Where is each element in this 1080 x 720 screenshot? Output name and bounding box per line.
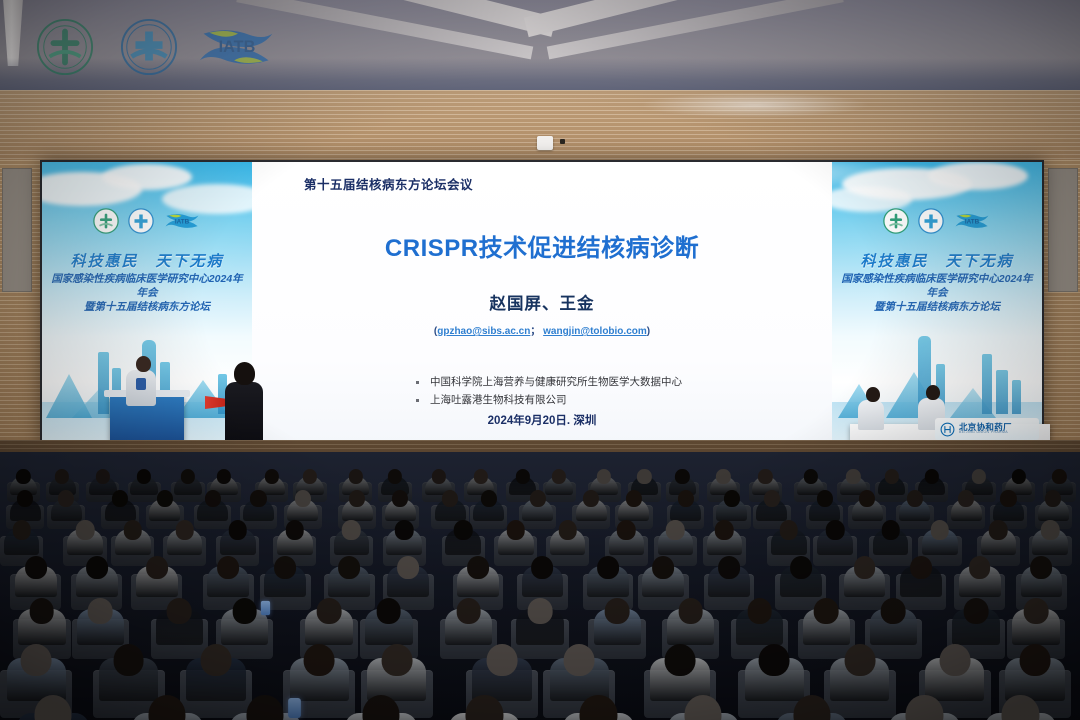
head-table-person-body: [858, 400, 884, 430]
audience-member-head: [303, 469, 317, 484]
audience-member-head: [467, 556, 489, 579]
audience-member-head: [481, 490, 497, 507]
audience-member-head: [12, 520, 31, 539]
green-circular-emblem-logo: [883, 208, 909, 234]
audience-member: [985, 684, 1056, 720]
poster-subtitle-line2: 暨第十五届结核病东方论坛: [84, 301, 210, 313]
cloud-shape: [928, 162, 1028, 190]
audience-member-head: [764, 490, 780, 507]
iatb-logo: IATB: [953, 210, 991, 232]
audience-member-head: [217, 469, 231, 484]
poster-subtitle-line2: 暨第十五届结核病东方论坛: [874, 301, 1000, 313]
list-item: 中国科学院上海营养与健康研究所生物医学大数据中心: [414, 373, 682, 391]
audience-member-head: [88, 598, 113, 624]
list-item: 上海吐露港生物科技有限公司: [414, 391, 682, 409]
sponsor-name-en: BEIJING UNION PHARMA: [959, 431, 1012, 435]
audience-member-head: [473, 469, 487, 484]
standing-staff-body: [225, 382, 263, 444]
audience-member-head: [846, 469, 860, 484]
audience-member-head: [1019, 644, 1050, 676]
audience-member-head: [881, 520, 900, 539]
audience-member-head: [528, 598, 553, 624]
poster-logo-group: IATB: [832, 204, 1042, 238]
audience-member-head: [76, 520, 95, 539]
audience-member-head: [16, 469, 30, 484]
slide-authors: 赵国屏、王金: [252, 290, 832, 314]
audience-member-head: [724, 490, 740, 507]
audience-member-head: [552, 469, 566, 484]
left-wall-gray-panel: [2, 168, 32, 292]
audience-member-head: [530, 490, 546, 507]
conference-hall-screenshot: IATB: [0, 0, 1080, 720]
audience-member-head: [392, 490, 408, 507]
audience-member-head: [349, 490, 365, 507]
slide-date-location: 2024年9月20日. 深圳: [252, 412, 832, 428]
slide-content: 第十五届结核病东方论坛会议 CRISPR技术促进结核病诊断 赵国屏、王金 (gp…: [252, 162, 832, 444]
audience-member-head: [964, 598, 989, 624]
led-screen: IATB 科技惠民 天下无病 国家感染性疾病临床医学研究中心2024年年会 暨第…: [42, 162, 1042, 444]
audience-member-head: [487, 644, 518, 676]
audience-member-head: [790, 556, 812, 579]
audience-member-head: [747, 598, 772, 624]
audience-member-head: [286, 520, 305, 539]
audience-member-head: [295, 490, 311, 507]
svg-text:IATB: IATB: [175, 219, 190, 226]
wall-mount-dot: [560, 139, 565, 144]
slide-emails: (gpzhao@sibs.ac.cn； wangjin@tolobio.com): [252, 322, 832, 337]
audience-member-head: [859, 490, 875, 507]
tower-shape: [1012, 380, 1021, 414]
audience-member-head: [55, 469, 69, 484]
audience-member: [345, 684, 416, 720]
audience-member-head: [564, 644, 595, 676]
audience-member-head: [395, 520, 414, 539]
audience-member-head: [759, 644, 790, 676]
audience-member: [668, 684, 739, 720]
audience-member-head: [35, 695, 72, 720]
audience-member-head: [304, 644, 335, 676]
audience-member-head: [247, 695, 284, 720]
slide-affiliation-list: 中国科学院上海营养与健康研究所生物医学大数据中心 上海吐露港生物科技有限公司: [374, 373, 682, 410]
audience-member-head: [1045, 490, 1061, 507]
audience-member-head: [338, 556, 360, 579]
audience-member-head: [96, 469, 110, 484]
poster-subtitle: 国家感染性疾病临床医学研究中心2024年年会 暨第十五届结核病东方论坛: [832, 272, 1042, 315]
audience-member-head: [907, 490, 923, 507]
email-separator: ；: [530, 326, 540, 337]
slide-header: 第十五届结核病东方论坛会议: [304, 174, 473, 193]
audience-member-head: [1031, 556, 1053, 579]
audience-member-head: [17, 490, 33, 507]
audience-member-head: [515, 469, 529, 484]
audience-member-head: [137, 469, 151, 484]
audience-member-head: [972, 469, 986, 484]
iatb-logo: IATB: [194, 24, 280, 70]
audience-member-head: [149, 695, 186, 720]
audience-member: [889, 684, 960, 720]
head-table-person-head: [866, 387, 880, 402]
audience-member-head: [580, 695, 617, 720]
audience-member-head: [939, 644, 970, 676]
email-address-2: wangjin@tolobio.com: [543, 326, 647, 337]
audience-area: [0, 452, 1080, 720]
audience-member-head: [924, 469, 938, 484]
audience-member-head: [112, 490, 128, 507]
poster-subtitle: 国家感染性疾病临床医学研究中心2024年年会 暨第十五届结核病东方论坛: [42, 272, 252, 315]
audience-member-head: [205, 490, 221, 507]
audience-member-head: [21, 644, 52, 676]
blue-medical-cross-logo: [918, 208, 944, 234]
audience-member-head: [466, 695, 503, 720]
audience-member-head: [906, 695, 943, 720]
audience-member-head: [157, 490, 173, 507]
union-h-mark-icon: [940, 422, 955, 437]
tower-shape: [98, 352, 109, 414]
audience-member-head: [626, 490, 642, 507]
svg-text:IATB: IATB: [219, 38, 256, 56]
audience-member-head: [181, 469, 195, 484]
poster-subtitle-line1: 国家感染性疾病临床医学研究中心2024年年会: [51, 273, 242, 299]
audience-member-head: [454, 520, 473, 539]
speaker-lanyard: [136, 378, 146, 390]
audience-member-head: [780, 520, 799, 539]
audience-member-head: [715, 520, 734, 539]
audience-member-head: [685, 695, 722, 720]
audience-member-head: [1002, 695, 1039, 720]
audience-member-head: [532, 556, 554, 579]
email-address-1: gpzhao@sibs.ac.cn: [437, 326, 530, 337]
blue-medical-cross-logo: [120, 18, 178, 76]
audience-member-head: [229, 520, 248, 539]
audience-member-head: [167, 598, 192, 624]
audience-member-head: [958, 490, 974, 507]
audience-member-head: [381, 644, 412, 676]
poster-tagline: 科技惠民 天下无病: [832, 250, 1042, 271]
audience-member-head: [1052, 469, 1066, 484]
raised-phone: [288, 699, 301, 719]
audience-member-head: [817, 490, 833, 507]
audience-member: [17, 684, 88, 720]
audience-member-head: [175, 520, 194, 539]
wall-logo-group: IATB: [22, 8, 302, 80]
audience-member-head: [1024, 598, 1049, 624]
audience-member-head: [397, 556, 419, 579]
sponsor-text: 北京协和药厂 BEIJING UNION PHARMA: [959, 423, 1012, 435]
audience-member-head: [617, 520, 636, 539]
audience-member: [449, 684, 520, 720]
podium-speaker-head: [136, 356, 151, 372]
audience-member-head: [884, 469, 898, 484]
audience-member-head: [29, 598, 54, 624]
audience-member-head: [605, 598, 630, 624]
iatb-logo: IATB: [163, 210, 201, 232]
slide-title: CRISPR技术促进结核病诊断: [252, 228, 832, 263]
audience-member-head: [506, 520, 525, 539]
wall-sensor-device: [537, 136, 553, 150]
audience-member-head: [931, 520, 950, 539]
audience-member: [563, 684, 634, 720]
audience-member-head: [652, 556, 674, 579]
audience-member-head: [814, 598, 839, 624]
right-wall-gray-panel: [1048, 168, 1078, 292]
audience-member-head: [146, 556, 168, 579]
audience-member-head: [265, 469, 279, 484]
audience-member-head: [376, 598, 401, 624]
audience-member-head: [758, 469, 772, 484]
audience-member-head: [718, 556, 740, 579]
audience-member-head: [201, 644, 232, 676]
audience-member: [776, 684, 847, 720]
poster-tagline: 科技惠民 天下无病: [42, 250, 252, 271]
wall-light-glow: [640, 92, 870, 118]
audience-member-head: [989, 520, 1008, 539]
audience-member-head: [274, 556, 296, 579]
audience-member-head: [678, 598, 703, 624]
audience-member-head: [637, 469, 651, 484]
audience-member-head: [666, 520, 685, 539]
audience-member-head: [317, 598, 342, 624]
audience-member-head: [675, 469, 689, 484]
audience-member-head: [826, 520, 845, 539]
audience-member-head: [854, 556, 876, 579]
audience-member-head: [86, 556, 108, 579]
emails-close-paren: ): [647, 326, 650, 337]
audience-member-head: [58, 490, 74, 507]
upper-wood-slat-wall: [0, 90, 1080, 168]
poster-subtitle-line1: 国家感染性疾病临床医学研究中心2024年年会: [841, 273, 1032, 299]
audience-member-head: [342, 520, 361, 539]
audience-member-head: [388, 469, 402, 484]
audience-member-head: [432, 469, 446, 484]
audience-member-head: [969, 556, 991, 579]
audience-member: [132, 684, 203, 720]
audience-member-head: [1011, 469, 1025, 484]
audience-member-head: [678, 490, 694, 507]
audience-member-head: [250, 490, 266, 507]
audience-member-head: [665, 644, 696, 676]
standing-staff-head: [234, 362, 255, 385]
audience-member-head: [348, 469, 362, 484]
audience-member-head: [716, 469, 730, 484]
audience-member-head: [597, 556, 619, 579]
raised-phone: [261, 600, 270, 614]
audience-member-head: [803, 469, 817, 484]
audience-member-head: [124, 520, 143, 539]
audience-member-head: [113, 644, 144, 676]
audience-member-head: [232, 598, 257, 624]
svg-text:IATB: IATB: [965, 219, 980, 226]
head-table-person-head: [926, 385, 940, 400]
poster-logo-group: IATB: [42, 204, 252, 238]
audience-member-head: [597, 469, 611, 484]
green-circular-emblem-logo: [36, 18, 94, 76]
tower-shape: [982, 354, 992, 414]
audience-member-head: [456, 598, 481, 624]
audience-member-head: [25, 556, 47, 579]
audience-member-head: [793, 695, 830, 720]
green-circular-emblem-logo: [93, 208, 119, 234]
audience-member-head: [217, 556, 239, 579]
audience-member-head: [910, 556, 932, 579]
tower-shape: [996, 370, 1008, 414]
audience-member-head: [558, 520, 577, 539]
sponsor-logo: 北京协和药厂 BEIJING UNION PHARMA: [935, 418, 1039, 440]
audience-member-head: [583, 490, 599, 507]
audience-member-head: [1000, 490, 1016, 507]
cloud-shape: [102, 164, 192, 190]
audience-member-head: [442, 490, 458, 507]
blue-medical-cross-logo: [128, 208, 154, 234]
audience-member-head: [881, 598, 906, 624]
audience-member-head: [362, 695, 399, 720]
led-screen-frame: IATB 科技惠民 天下无病 国家感染性疾病临床医学研究中心2024年年会 暨第…: [40, 160, 1044, 446]
audience-member-head: [844, 644, 875, 676]
audience-member-head: [1041, 520, 1060, 539]
audience-member: [264, 548, 306, 597]
